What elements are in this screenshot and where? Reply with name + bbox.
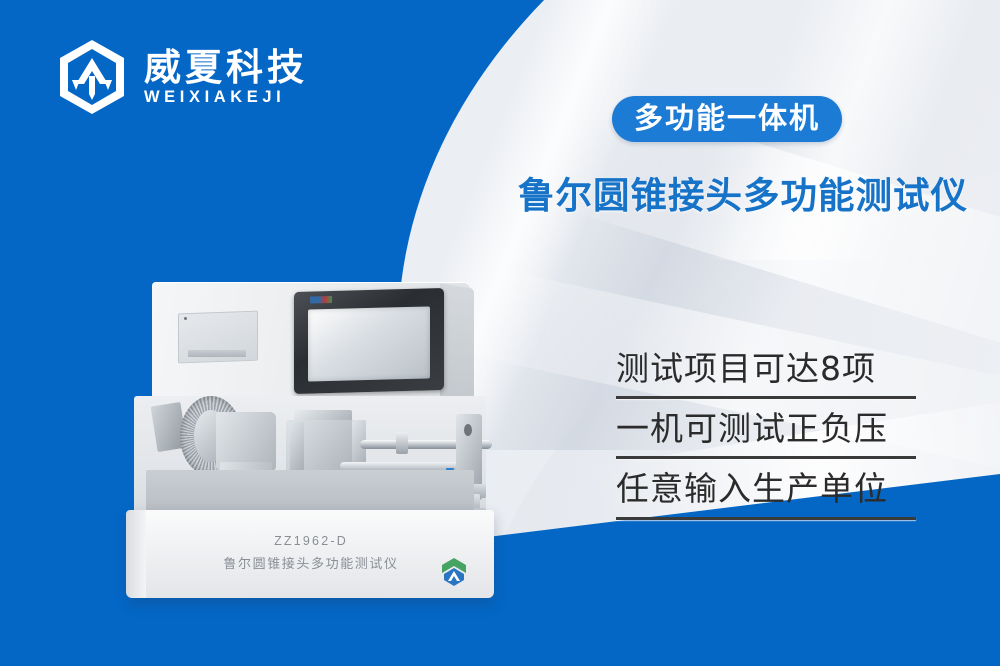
brand-name-en: WEIXIAKEJI [144, 89, 308, 106]
page-title: 鲁尔圆锥接头多功能测试仪 [518, 166, 988, 219]
feature-text: 一机可测试正负压 [612, 408, 922, 450]
list-item: 测试项目可达8项 [612, 348, 922, 399]
machine-console-side [440, 283, 474, 406]
mini-hexagon-logo-icon [436, 554, 472, 590]
list-item: 任意输入生产单位 [612, 468, 922, 519]
status-badge: 多功能一体机 [612, 96, 842, 142]
product-image: ZZ1962-D 鲁尔圆锥接头多功能测试仪 [128, 272, 508, 624]
machine-hatch-lip [188, 350, 246, 357]
divider [616, 456, 916, 459]
headline-block: 多功能一体机 [612, 96, 942, 142]
brand-name-cn: 威夏科技 [144, 49, 308, 87]
hmi-touchscreen-icon [294, 288, 444, 394]
hexagon-mountain-logo-icon [58, 38, 126, 116]
divider [616, 396, 916, 399]
hmi-brand-sticker [310, 296, 332, 304]
machine-shaft-collar [396, 432, 408, 454]
background-wedge-bottom [430, 612, 1000, 666]
list-item: 一机可测试正负压 [612, 408, 922, 459]
feature-list: 测试项目可达8项 一机可测试正负压 任意输入生产单位 [612, 348, 922, 529]
hmi-display [308, 306, 430, 381]
brand-lockup: 威夏科技 WEIXIAKEJI [58, 38, 308, 116]
feature-text: 测试项目可达8项 [612, 348, 922, 390]
machine-model-label: ZZ1962-D [128, 534, 494, 548]
machine-hatch-screw [184, 317, 187, 320]
product-banner: 威夏科技 WEIXIAKEJI 多功能一体机 鲁尔圆锥接头多功能测试仪 测试项目… [0, 0, 1000, 666]
divider [616, 517, 916, 520]
machine-bracket-hole [464, 424, 472, 436]
brand-wordmark: 威夏科技 WEIXIAKEJI [144, 49, 308, 105]
machine-deck-plate [146, 470, 474, 512]
machine-guide-rail [340, 462, 460, 470]
feature-text: 任意输入生产单位 [612, 468, 922, 510]
